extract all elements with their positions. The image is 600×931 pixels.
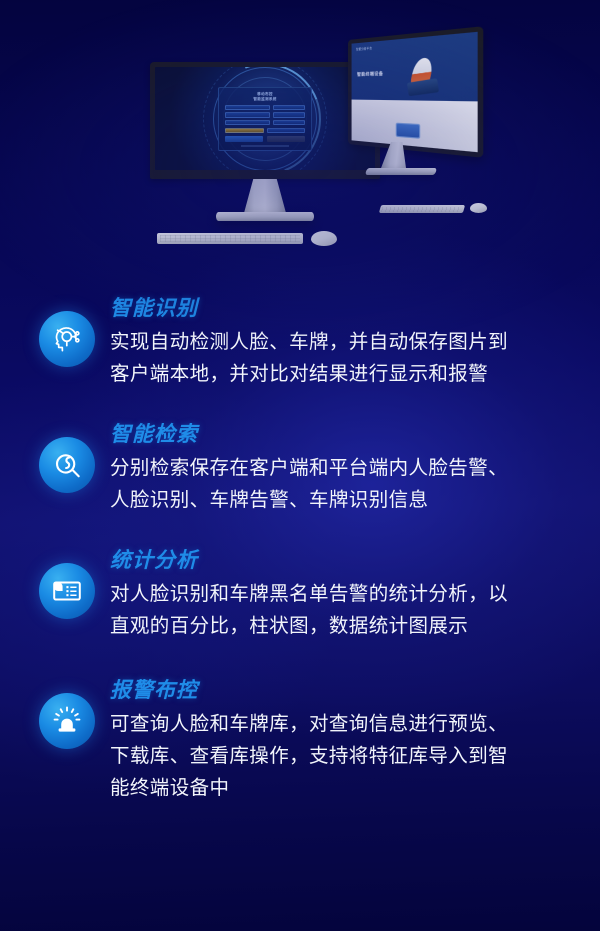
feature-title: 报警布控: [110, 678, 508, 704]
login-extra-input[interactable]: [273, 120, 305, 125]
main-monitor-screen: 移动布控 智能监测系统: [150, 62, 380, 179]
login-port-input[interactable]: [273, 105, 305, 110]
side-monitor-action-button[interactable]: [396, 123, 420, 139]
feature-title: 智能检索: [110, 422, 508, 448]
feature-description-line: 直观的百分比，柱状图，数据统计图展示: [110, 610, 508, 642]
side-monitor-headline: 智能终端设备: [357, 71, 383, 78]
feature-text-block: 统计分析 对人脸识别和车牌黑名单告警的统计分析，以 直观的百分比，柱状图，数据统…: [110, 540, 508, 642]
login-warning-field: [225, 128, 264, 133]
login-footer-text: [241, 145, 289, 147]
login-submit-button[interactable]: [225, 136, 263, 142]
feature-title: 统计分析: [110, 548, 508, 574]
side-monitor-screen: 智能分析平台 智能终端设备: [348, 26, 483, 158]
feature-item-intelligent-search: 智能检索 分别检索保存在客户端和平台端内人脸告警、 人脸识别、车牌告警、车牌识别…: [0, 414, 600, 516]
feature-text-block: 智能识别 实现自动检测人脸、车牌，并自动保存图片到 客户端本地，并对比对结果进行…: [110, 288, 508, 390]
main-mouse: [311, 231, 337, 246]
main-monitor-base: [216, 212, 314, 221]
feature-item-statistical-analysis: 统计分析 对人脸识别和车牌黑名单告警的统计分析，以 直观的百分比，柱状图，数据统…: [0, 540, 600, 642]
login-checkbox-field[interactable]: [267, 128, 306, 133]
side-monitor-top-label: 智能分析平台: [356, 46, 372, 51]
search-swirl-icon: [39, 437, 95, 493]
feature-description-line: 实现自动检测人脸、车牌，并自动保存图片到: [110, 326, 508, 358]
login-mode-input[interactable]: [273, 112, 305, 117]
feature-description: 分别检索保存在客户端和平台端内人脸告警、 人脸识别、车牌告警、车牌识别信息: [110, 452, 508, 516]
login-buttons: [225, 136, 305, 142]
feature-description-line: 能终端设备中: [110, 772, 508, 804]
login-reset-button[interactable]: [267, 136, 305, 142]
login-field-row: [225, 128, 305, 133]
feature-description-line: 客户端本地，并对比对结果进行显示和报警: [110, 358, 508, 390]
feature-description: 对人脸识别和车牌黑名单告警的统计分析，以 直观的百分比，柱状图，数据统计图展示: [110, 578, 508, 642]
feature-description: 实现自动检测人脸、车牌，并自动保存图片到 客户端本地，并对比对结果进行显示和报警: [110, 326, 508, 390]
side-monitor-display: 智能分析平台 智能终端设备: [352, 32, 478, 152]
feature-text-block: 智能检索 分别检索保存在客户端和平台端内人脸告警、 人脸识别、车牌告警、车牌识别…: [110, 414, 508, 516]
feature-description-line: 下载库、查看库操作，支持将特征库导入到智: [110, 740, 508, 772]
alarm-siren-icon: [39, 693, 95, 749]
feature-description-line: 人脸识别、车牌告警、车牌识别信息: [110, 484, 508, 516]
side-keyboard: [379, 205, 465, 213]
feature-item-intelligent-recognition: 智能识别 实现自动检测人脸、车牌，并自动保存图片到 客户端本地，并对比对结果进行…: [0, 288, 600, 390]
login-panel: 移动布控 智能监测系统: [218, 87, 312, 151]
login-password-input[interactable]: [225, 120, 270, 125]
login-field-row: [225, 120, 305, 125]
chart-report-icon: [39, 563, 95, 619]
login-fields: [225, 105, 305, 134]
login-field-row: [225, 112, 305, 117]
main-monitor-display: 移动布控 智能监测系统: [155, 67, 375, 170]
feature-description-line: 可查询人脸和车牌库，对查询信息进行预览、: [110, 708, 508, 740]
feature-item-alarm-deployment: 报警布控 可查询人脸和车牌库，对查询信息进行预览、 下载库、查看库操作，支持将特…: [0, 670, 600, 804]
ai-head-icon: [39, 311, 95, 367]
feature-title: 智能识别: [110, 296, 508, 322]
main-monitor-stand: [244, 179, 286, 213]
hero-product-image: 移动布控 智能监测系统: [0, 40, 600, 270]
login-user-input[interactable]: [225, 112, 270, 117]
side-monitor-graphic: [403, 56, 443, 99]
side-monitor-base: [365, 168, 437, 175]
feature-description-line: 分别检索保存在客户端和平台端内人脸告警、: [110, 452, 508, 484]
feature-description-line: 对人脸识别和车牌黑名单告警的统计分析，以: [110, 578, 508, 610]
feature-text-block: 报警布控 可查询人脸和车牌库，对查询信息进行预览、 下载库、查看库操作，支持将特…: [110, 670, 508, 804]
main-keyboard: [157, 233, 303, 244]
feature-list: 智能识别 实现自动检测人脸、车牌，并自动保存图片到 客户端本地，并对比对结果进行…: [0, 288, 600, 804]
login-field-row: [225, 105, 305, 110]
login-server-input[interactable]: [225, 105, 270, 110]
login-title-line2: 智能监测系统: [225, 97, 305, 102]
feature-description: 可查询人脸和车牌库，对查询信息进行预览、 下载库、查看库操作，支持将特征库导入到…: [110, 708, 508, 804]
side-mouse: [470, 203, 487, 213]
poster-page: 移动布控 智能监测系统: [0, 0, 600, 931]
